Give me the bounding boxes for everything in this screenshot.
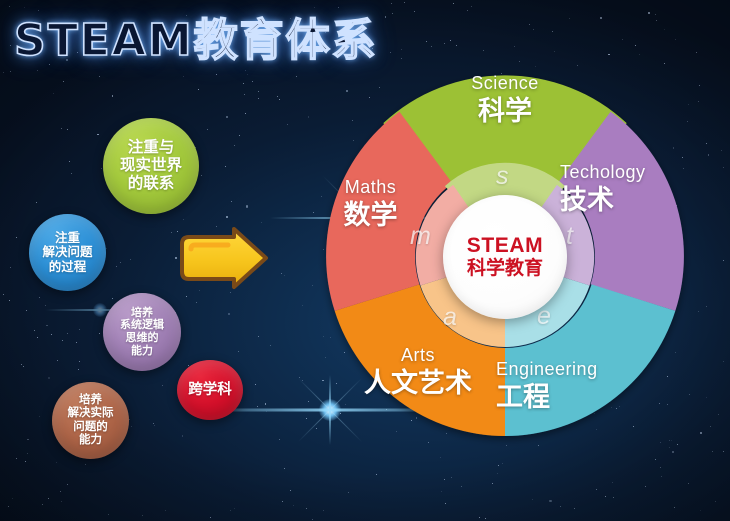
bubble-interdisciplinary[interactable]: 跨学科 <box>177 360 243 420</box>
bubble-purple-label: 培养系统逻辑思维的能力 <box>116 307 168 358</box>
steam-donut-chart: Science 科学 Techology 技术 Engineering 工程 A… <box>298 50 712 464</box>
center-hub[interactable]: STEAM 科学教育 <box>443 195 567 319</box>
hub-title-en: STEAM <box>467 234 544 257</box>
bubble-problem-solving-process[interactable]: 注重解决问题的过程 <box>29 214 106 291</box>
bubble-brown-label: 培养解决实际问题的能力 <box>64 394 118 447</box>
bubble-connection-real-world[interactable]: 注重与现实世界的联系 <box>103 118 199 214</box>
hub-title-cn: 科学教育 <box>467 258 543 280</box>
bubble-practical-problem-ability[interactable]: 培养解决实际问题的能力 <box>52 382 129 459</box>
bubble-systems-logic-thinking[interactable]: 培养系统逻辑思维的能力 <box>103 293 181 371</box>
right-arrow-icon <box>176 226 270 290</box>
bubble-blue-label: 注重解决问题的过程 <box>38 231 96 274</box>
infographic-canvas: STEAM教育体系 注重与现实世界的联系 注重解决问题的过程 培养系统逻辑思维的… <box>0 0 730 521</box>
bubble-green-label: 注重与现实世界的联系 <box>116 139 186 192</box>
bubble-red-label: 跨学科 <box>184 382 236 399</box>
